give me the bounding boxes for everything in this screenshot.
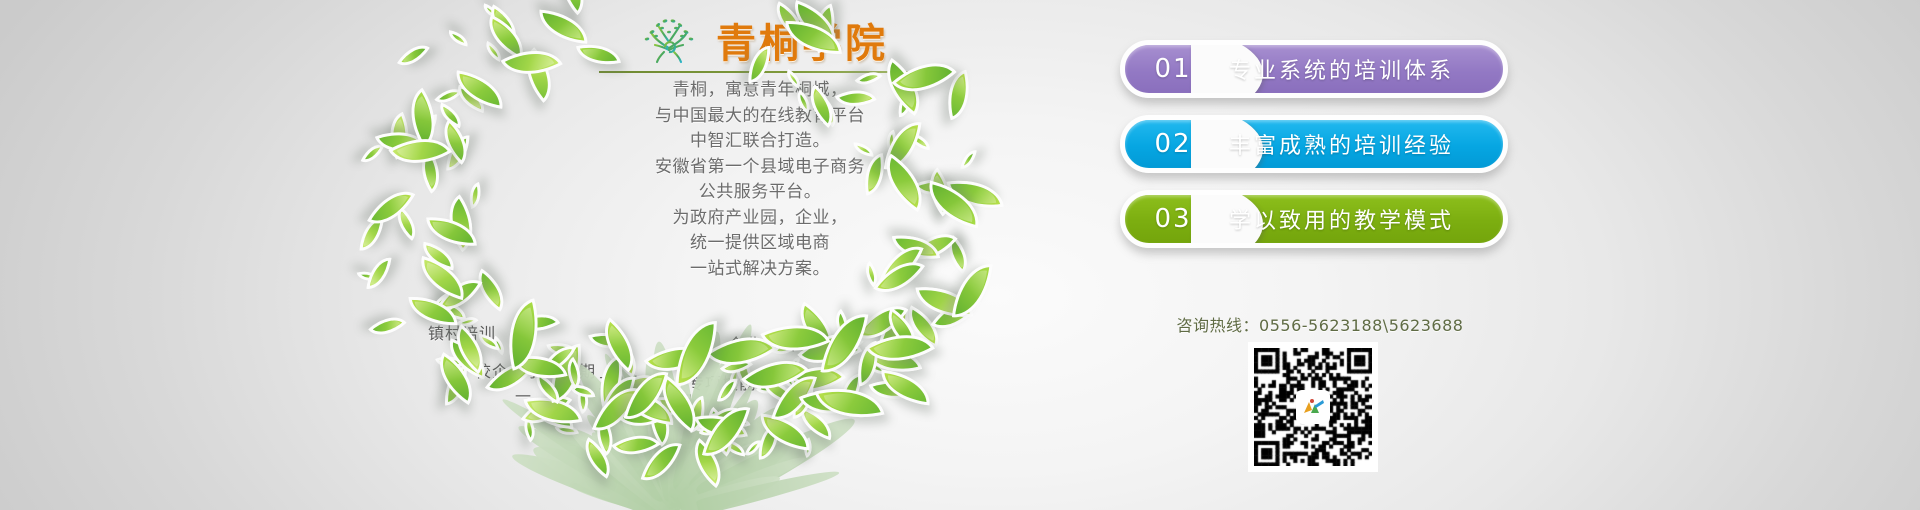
feature-list: 01 专业系统的培训体系 02 丰富成熟的培训经验 03 学以致用的教学模式 (1120, 40, 1520, 265)
leaf-icon (368, 307, 406, 344)
feature-item-02[interactable]: 02 丰富成熟的培训经验 (1120, 115, 1508, 173)
feature-number: 01 (1125, 54, 1221, 84)
qr-code-icon[interactable] (1248, 342, 1378, 472)
feature-label: 学以致用的教学模式 (1221, 203, 1503, 235)
hotline-text: 咨询热线：0556-5623188\5623688 (1120, 312, 1520, 336)
feature-item-03[interactable]: 03 学以致用的教学模式 (1120, 190, 1508, 248)
feature-label: 丰富成熟的培训经验 (1221, 128, 1503, 160)
about-line: 为政府产业园，企业， (545, 206, 975, 232)
leaf-icon (397, 38, 430, 74)
tree-icon (632, 12, 706, 66)
leaf-icon (465, 182, 486, 209)
hero-banner: 青桐学院 青桐，寓意青年桐城，与中国最大的在线教育平台中智汇联合打造。安徽省第一… (0, 0, 1920, 510)
leaf-icon (447, 30, 470, 46)
qr-center-logo (1296, 390, 1330, 424)
feature-label: 专业系统的培训体系 (1221, 53, 1503, 85)
qr-logo-mark (1300, 397, 1326, 417)
leaf-icon (366, 255, 391, 291)
feature-number: 02 (1125, 129, 1221, 159)
feature-number: 03 (1125, 204, 1221, 234)
feature-item-01[interactable]: 01 专业系统的培训体系 (1120, 40, 1508, 98)
leaf-icon (879, 369, 933, 405)
